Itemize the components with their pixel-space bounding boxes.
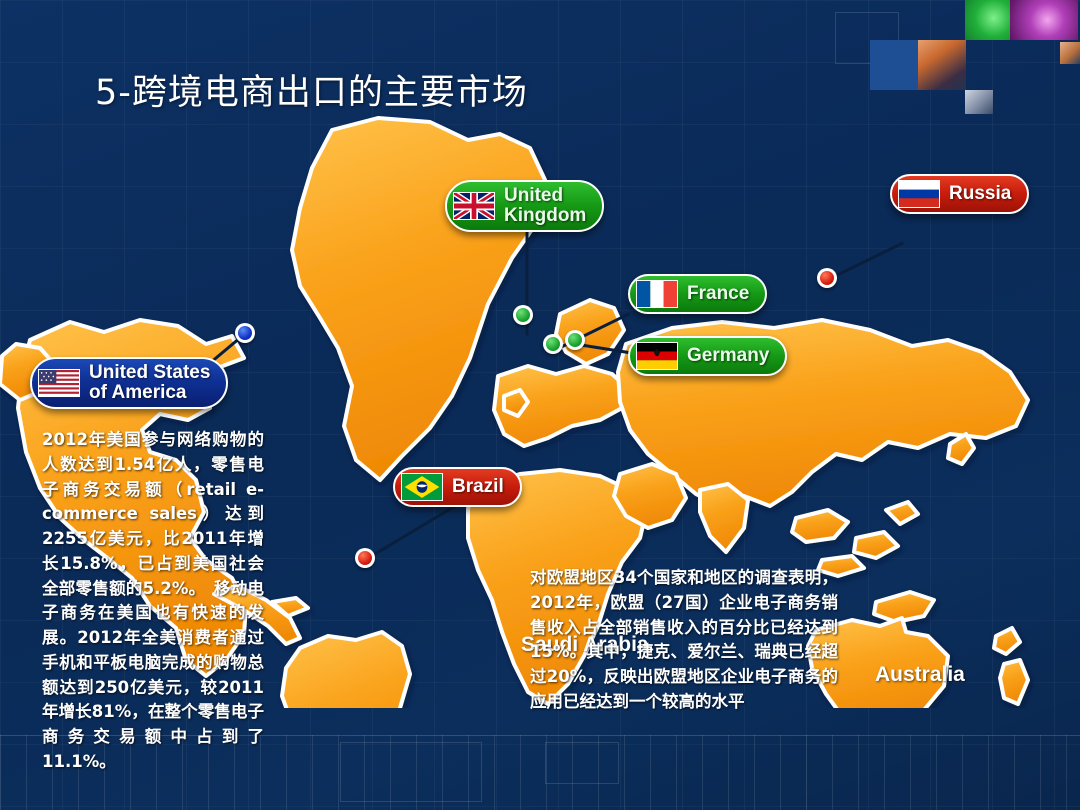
map-label-germany[interactable]: Germany bbox=[628, 336, 787, 376]
deco-tile-hands-photo bbox=[918, 40, 966, 90]
grid-accent-box bbox=[340, 742, 482, 802]
france-flag-icon bbox=[636, 280, 678, 308]
map-label-text: Germany bbox=[687, 346, 769, 366]
map-marker-united-kingdom[interactable] bbox=[513, 305, 533, 325]
text-block-eu-stats: 对欧盟地区34个国家和地区的调查表明，2012年，欧盟（27国）企业电子商务销售… bbox=[530, 566, 838, 715]
russia-flag-icon bbox=[898, 180, 940, 208]
map-marker-united-states[interactable] bbox=[235, 323, 255, 343]
deco-tile-globe-photo bbox=[1010, 0, 1078, 40]
slide-canvas: 5-跨境电商出口的主要市场 bbox=[0, 0, 1080, 810]
map-label-text: France bbox=[687, 284, 749, 304]
germany-flag-icon bbox=[636, 342, 678, 370]
decorative-photo-mosaic bbox=[820, 0, 1080, 120]
map-marker-brazil[interactable] bbox=[355, 548, 375, 568]
brazil-flag-icon bbox=[401, 473, 443, 501]
map-label-united-states[interactable]: United States of America bbox=[30, 357, 228, 409]
map-label-text: Russia bbox=[949, 184, 1011, 204]
deco-tile-edge-photo bbox=[1060, 42, 1080, 64]
text-block-usa-stats: 2012年美国参与网络购物的人数达到1.54亿人，零售电子商务交易额（retai… bbox=[42, 428, 264, 775]
map-label-brazil[interactable]: Brazil bbox=[393, 467, 522, 507]
map-marker-russia[interactable] bbox=[817, 268, 837, 288]
map-label-russia[interactable]: Russia bbox=[890, 174, 1029, 214]
map-label-france[interactable]: France bbox=[628, 274, 767, 314]
usa-flag-icon bbox=[38, 369, 80, 397]
uk-flag-icon bbox=[453, 192, 495, 220]
map-label-australia: Australia bbox=[875, 663, 965, 687]
map-marker-france[interactable] bbox=[543, 334, 563, 354]
map-label-text: Brazil bbox=[452, 477, 504, 497]
map-label-united-kingdom[interactable]: United Kingdom bbox=[445, 180, 604, 232]
map-label-text: United States of America bbox=[89, 363, 210, 403]
map-label-text: United Kingdom bbox=[504, 186, 586, 226]
map-marker-germany[interactable] bbox=[565, 330, 585, 350]
grid-accent-box bbox=[545, 742, 619, 784]
